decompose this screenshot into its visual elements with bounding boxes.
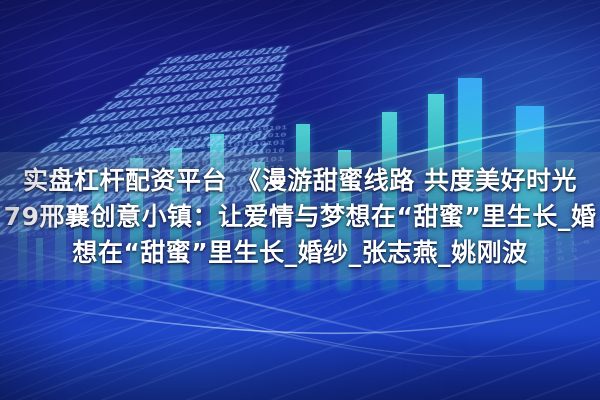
headline-line-3: 想在“甜蜜”里生长_婚纱_张志燕_姚刚波 [0,240,600,265]
light-curve-bottom [0,300,590,333]
banner-image: 101010101010101 0101010101010101 1010101… [0,0,600,400]
headline-line-1: 实盘杠杆配资平台 《漫游甜蜜线路 共度美好时光 [0,168,600,193]
headline-line-2: 79邢襄创意小镇：让爱情与梦想在“甜蜜”里生长_婚 [0,204,600,229]
